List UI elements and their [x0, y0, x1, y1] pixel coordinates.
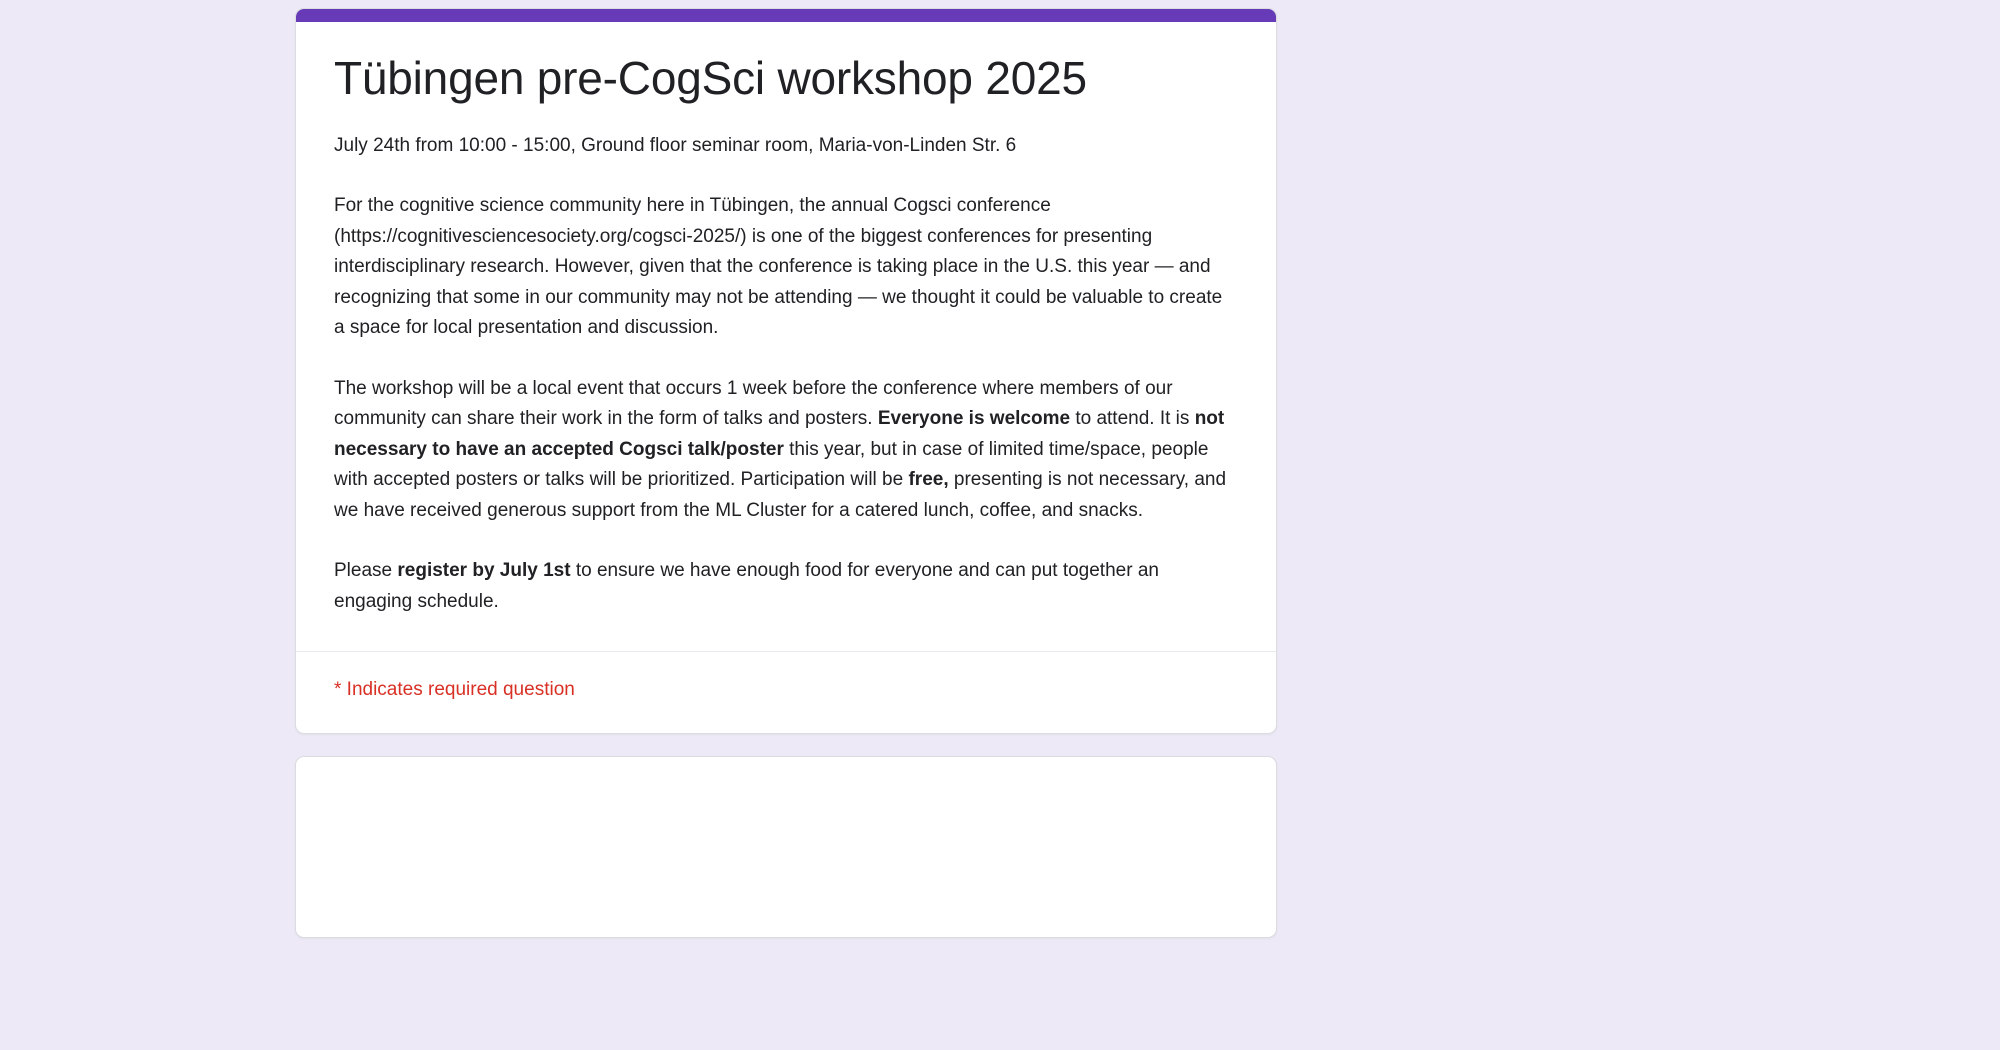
form-accent-bar	[296, 9, 1276, 22]
paragraph-2-bold-free: free,	[908, 469, 948, 490]
description-paragraph-1: For the cognitive science community here…	[334, 191, 1236, 344]
paragraph-2-bold-everyone-welcome: Everyone is welcome	[878, 408, 1070, 429]
form-header-card: Tübingen pre-CogSci workshop 2025 July 2…	[295, 8, 1277, 734]
description-paragraph-2: The workshop will be a local event that …	[334, 374, 1236, 527]
description-spacer	[334, 344, 1236, 374]
required-question-note: * Indicates required question	[334, 678, 1236, 703]
paragraph-3-bold-register-deadline: register by July 1st	[397, 560, 570, 581]
paragraph-3-text-1: Please	[334, 560, 397, 581]
form-title: Tübingen pre-CogSci workshop 2025	[334, 52, 1236, 105]
description-spacer	[334, 161, 1236, 191]
description-paragraph-3: Please register by July 1st to ensure we…	[334, 556, 1236, 617]
form-header-body: Tübingen pre-CogSci workshop 2025 July 2…	[296, 22, 1276, 617]
description-line-datetime: July 24th from 10:00 - 15:00, Ground flo…	[334, 131, 1236, 162]
form-question-card[interactable]	[295, 756, 1277, 938]
google-form-page: Tübingen pre-CogSci workshop 2025 July 2…	[0, 0, 2000, 1050]
form-column: Tübingen pre-CogSci workshop 2025 July 2…	[295, 8, 1277, 938]
paragraph-2-text-2: to attend. It is	[1070, 408, 1195, 429]
form-header-footer: * Indicates required question	[296, 651, 1276, 733]
form-description: July 24th from 10:00 - 15:00, Ground flo…	[334, 131, 1236, 618]
description-spacer	[334, 526, 1236, 556]
